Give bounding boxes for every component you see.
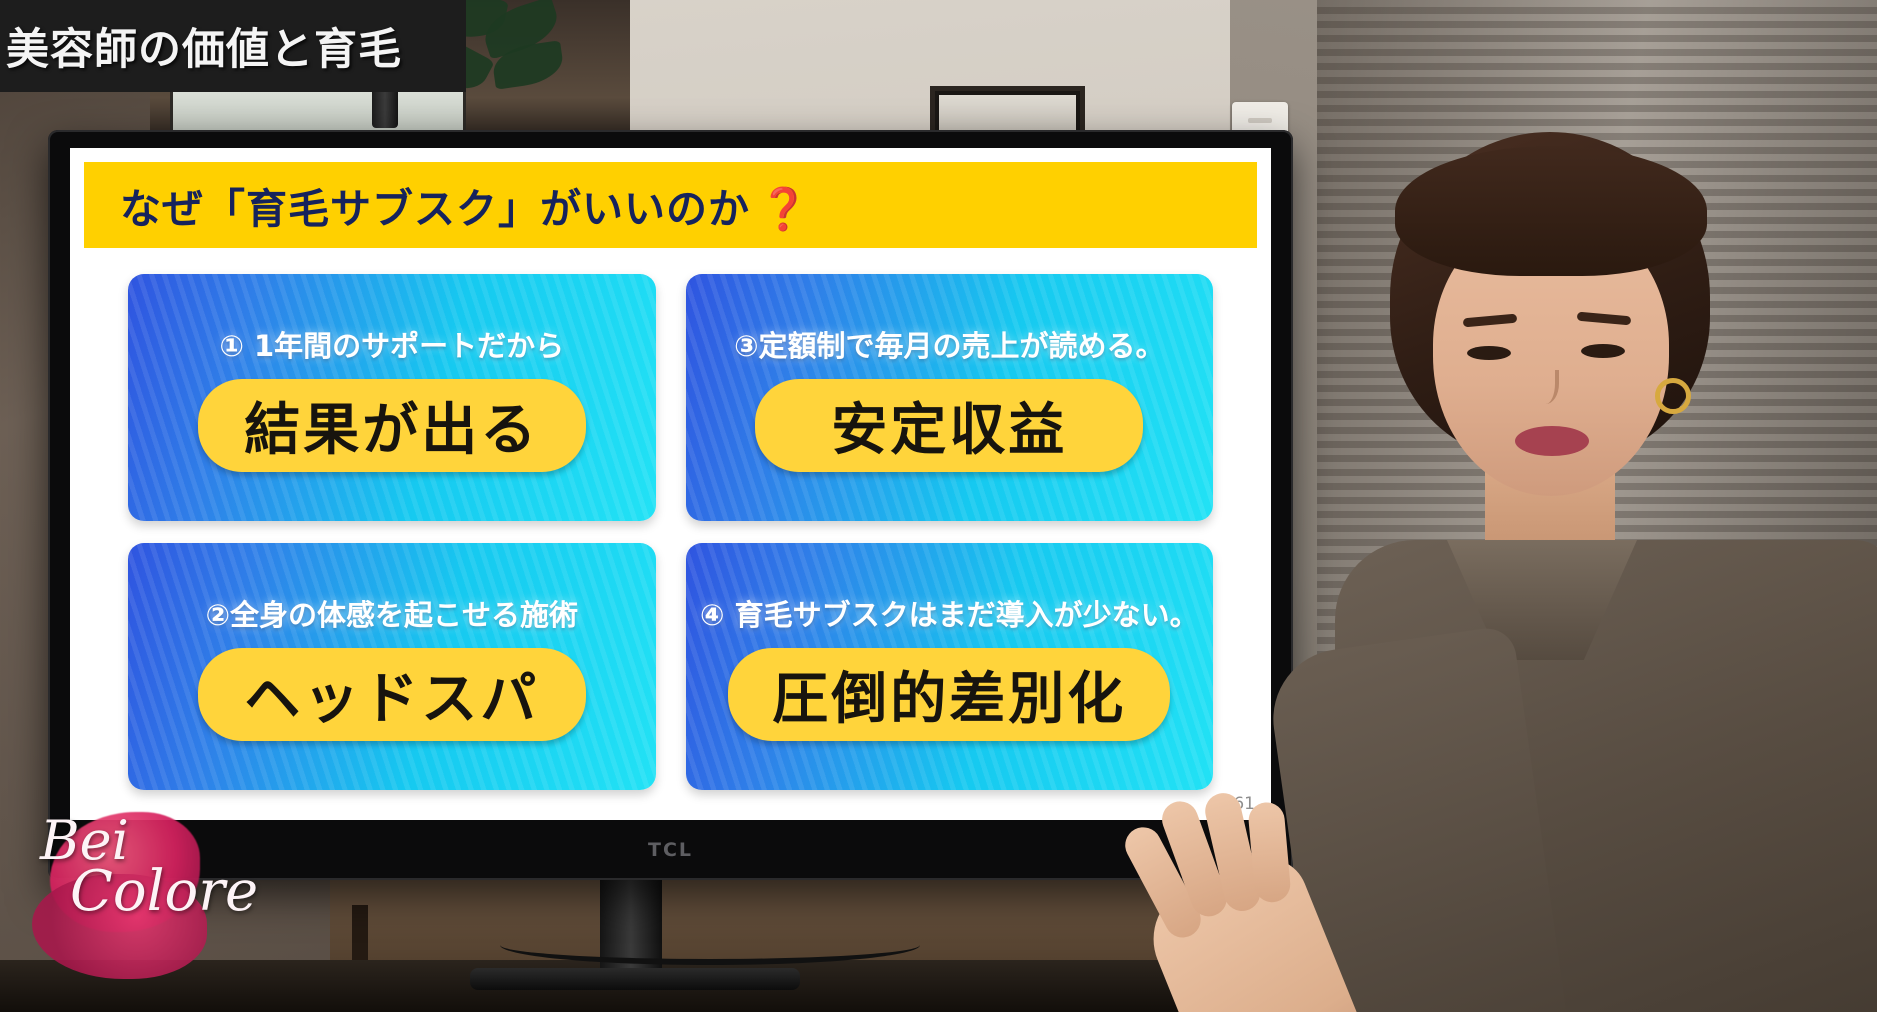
presenter-finger: [1247, 801, 1292, 904]
benefit-card-1[interactable]: ① 1年間のサポートだから 結果が出る: [128, 274, 656, 521]
card-grid: ① 1年間のサポートだから 結果が出る ③定額制で毎月の売上が読める。 安定収益…: [70, 248, 1271, 820]
benefit-card-2-pill-label: ヘッドスパ: [244, 667, 539, 732]
benefit-card-1-pill: 結果が出る: [198, 379, 586, 472]
presenter-mouth: [1515, 426, 1589, 456]
presenter-earring: [1655, 378, 1691, 414]
television: なぜ「育毛サブスク」がいいのか❓ ① 1年間のサポートだから 結果が出る ③定額…: [48, 130, 1293, 880]
benefit-card-3[interactable]: ③定額制で毎月の売上が読める。 安定収益: [686, 274, 1214, 521]
benefit-card-3-pill-label: 安定収益: [831, 398, 1067, 463]
benefit-card-4-heading: ④ 育毛サブスクはまだ導入が少ない。: [700, 592, 1199, 634]
presentation-slide: なぜ「育毛サブスク」がいいのか❓ ① 1年間のサポートだから 結果が出る ③定額…: [70, 148, 1271, 820]
benefit-card-2-pill: ヘッドスパ: [198, 648, 586, 741]
tv-cable: [500, 925, 920, 965]
presenter-hand: [1137, 846, 1378, 1012]
benefit-card-2[interactable]: ②全身の体感を起こせる施術 ヘッドスパ: [128, 543, 656, 790]
slide-title-text: なぜ「育毛サブスク」がいいのか: [120, 185, 750, 233]
video-frame: なぜ「育毛サブスク」がいいのか❓ ① 1年間のサポートだから 結果が出る ③定額…: [0, 0, 1877, 1012]
tv-screen: なぜ「育毛サブスク」がいいのか❓ ① 1年間のサポートだから 結果が出る ③定額…: [70, 148, 1271, 820]
benefit-card-3-pill: 安定収益: [755, 379, 1143, 472]
question-mark-icon: ❓: [758, 185, 810, 233]
benefit-card-4-pill-label: 圧倒的差別化: [772, 667, 1126, 732]
tv-stand-base: [470, 968, 800, 990]
presenter-eye-right: [1581, 344, 1625, 358]
slide-title-bar: なぜ「育毛サブスク」がいいのか❓: [84, 162, 1257, 248]
slide-title: なぜ「育毛サブスク」がいいのか❓: [120, 175, 810, 235]
overlay-title-text: 美容師の価値と育毛: [6, 15, 402, 77]
presenter: [1185, 120, 1877, 1012]
channel-logo-watermark: Bei Colore: [10, 802, 300, 992]
tv-brand-label: TCL: [648, 839, 693, 861]
benefit-card-2-heading: ②全身の体感を起こせる施術: [205, 592, 578, 634]
benefit-card-3-heading: ③定額制で毎月の売上が読める。: [734, 323, 1165, 365]
presenter-eye-left: [1467, 346, 1511, 360]
overlay-title-banner: 美容師の価値と育毛: [0, 0, 466, 92]
benefit-card-4-pill: 圧倒的差別化: [728, 648, 1170, 741]
logo-line-2: Colore: [70, 866, 290, 918]
benefit-card-1-heading: ① 1年間のサポートだから: [219, 323, 564, 365]
presenter-bangs: [1395, 146, 1707, 276]
benefit-card-1-pill-label: 結果が出る: [244, 398, 539, 463]
benefit-card-4[interactable]: ④ 育毛サブスクはまだ導入が少ない。 圧倒的差別化: [686, 543, 1214, 790]
logo-script: Bei Colore: [40, 816, 290, 917]
